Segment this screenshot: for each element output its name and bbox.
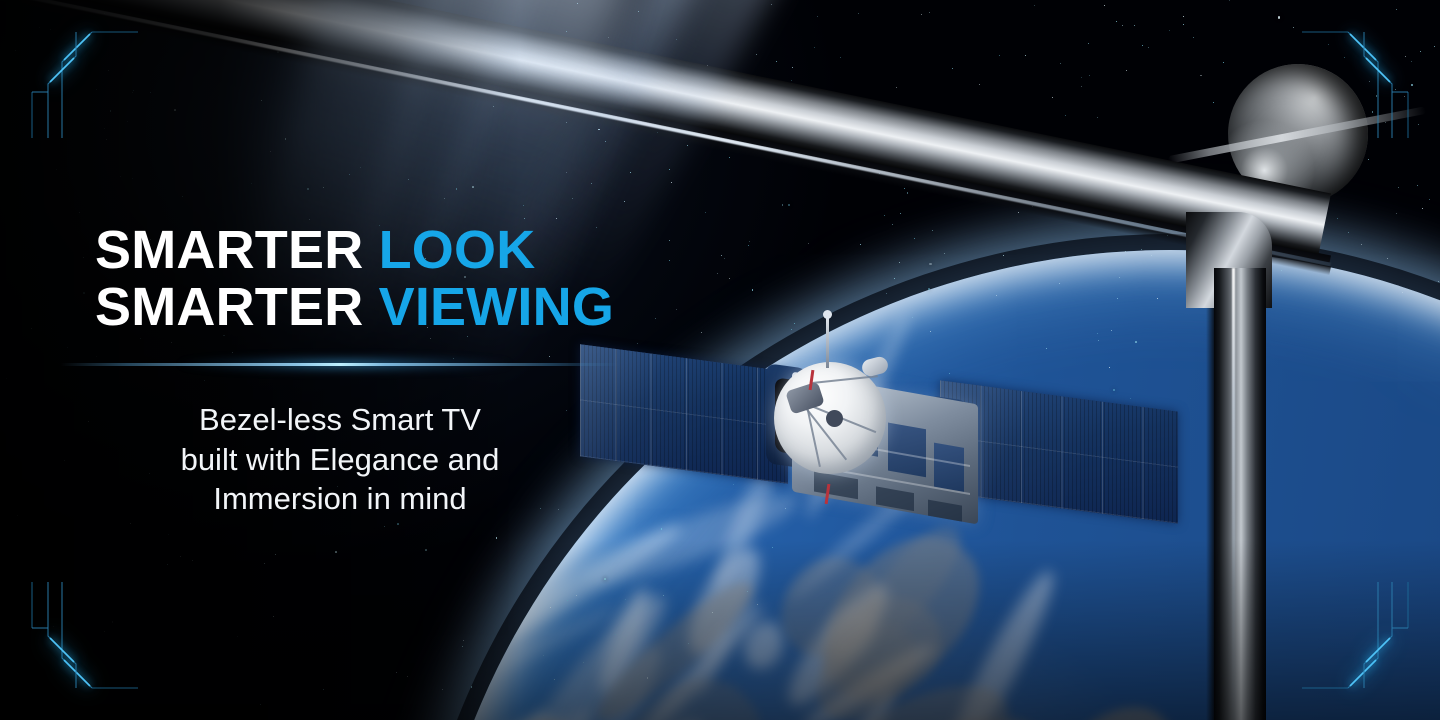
antenna-mast-tip xyxy=(823,310,832,319)
headline: SMARTER LOOK SMARTER VIEWING xyxy=(95,222,614,336)
promo-banner: SMARTER LOOK SMARTER VIEWING Bezel-less … xyxy=(0,0,1440,720)
dish-node xyxy=(826,410,843,427)
communications-satellite xyxy=(578,336,1198,568)
subtitle-line-2: built with Elegance and xyxy=(60,440,620,480)
corner-bracket-bottom-right xyxy=(1302,582,1414,694)
headline-line1-accent: LOOK xyxy=(379,220,536,280)
subtitle-line-1: Bezel-less Smart TV xyxy=(60,400,620,440)
corner-bracket-top-left xyxy=(26,26,138,138)
satellite-horn-antenna xyxy=(860,355,889,378)
satellite-antenna-mast xyxy=(826,314,829,368)
headline-divider xyxy=(60,363,620,366)
satellite-dish-antenna xyxy=(774,362,886,474)
headline-line1-white: SMARTER xyxy=(95,220,379,280)
headline-line2-accent: VIEWING xyxy=(379,277,614,337)
corner-bracket-top-right xyxy=(1302,26,1414,138)
corner-bracket-bottom-left xyxy=(26,582,138,694)
headline-line2-white: SMARTER xyxy=(95,277,379,337)
subtitle: Bezel-less Smart TV built with Elegance … xyxy=(60,400,620,519)
subtitle-line-3: Immersion in mind xyxy=(60,479,620,519)
